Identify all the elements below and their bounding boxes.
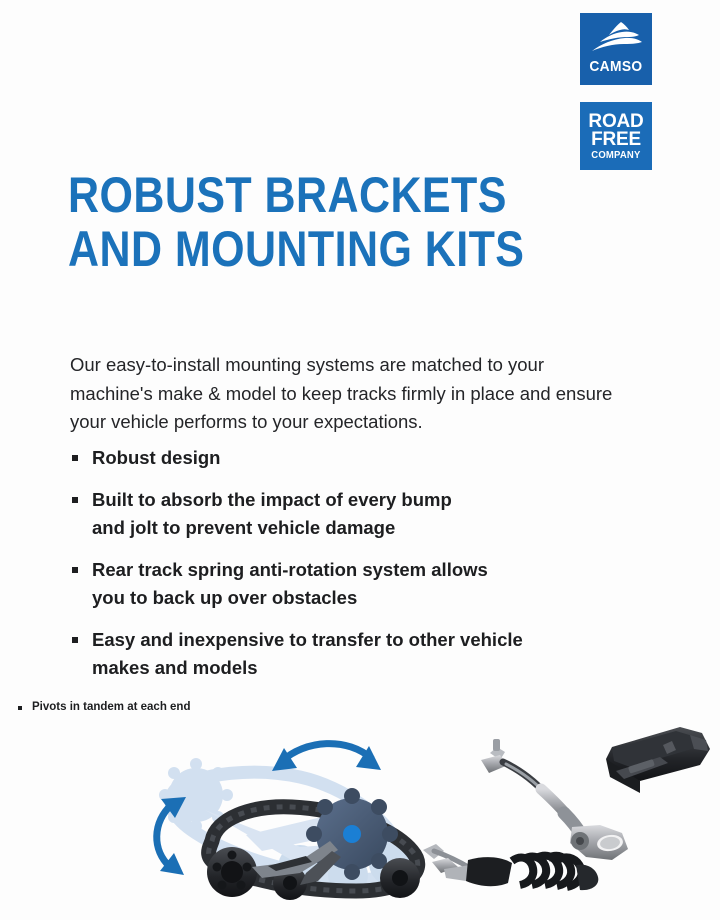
bullet-square-icon [72, 637, 78, 643]
linkage-arm-photo [481, 739, 628, 860]
camso-logo-tile[interactable]: CAMSO [580, 13, 652, 85]
list-item-label: Easy and inexpensive to transfer to othe… [92, 626, 650, 682]
list-item: Built to absorb the impact of every bump… [70, 486, 650, 542]
bullet-square-icon [72, 497, 78, 503]
page-root: { "brand": { "logo_tile": { "icon": "cam… [0, 0, 720, 920]
list-item: Easy and inexpensive to transfer to othe… [70, 626, 650, 682]
list-item-label: Rear track spring anti-rotation system a… [92, 556, 650, 612]
headline-line-2: AND MOUNTING KITS [68, 222, 550, 276]
footnote: Pivots in tandem at each end [18, 701, 190, 713]
camso-mountain-icon [590, 20, 642, 58]
brand-logo-block: CAMSO ROAD FREE COMPANY [580, 13, 652, 170]
illustration-area [0, 715, 720, 920]
list-item-label: Built to absorb the impact of every bump… [92, 486, 650, 542]
camso-wordmark: CAMSO [589, 59, 642, 74]
headline-line-1: ROBUST BRACKETS [68, 168, 550, 222]
feature-list: Robust design Built to absorb the impact… [70, 444, 650, 682]
list-item: Robust design [70, 444, 650, 472]
coil-spring-assembly-photo [423, 844, 598, 890]
list-item: Rear track spring anti-rotation system a… [70, 556, 650, 612]
intro-paragraph: Our easy-to-install mounting systems are… [70, 351, 630, 437]
bullet-square-icon [72, 567, 78, 573]
mounting-bracket-photo [606, 727, 710, 793]
bullet-square-icon [72, 455, 78, 461]
rubber-track-system-illustration [0, 715, 720, 920]
badge-line-company: COMPANY [591, 151, 640, 161]
pivot-arrow-top [281, 744, 372, 762]
coil-spring-coils [512, 856, 582, 887]
intro-paragraph-text: Our easy-to-install mounting systems are… [70, 351, 630, 437]
footnote-label: Pivots in tandem at each end [32, 701, 190, 713]
bullet-square-icon [18, 706, 22, 710]
badge-line-free: FREE [591, 131, 641, 149]
page-title: ROBUST BRACKETS AND MOUNTING KITS [68, 168, 628, 276]
road-free-company-badge[interactable]: ROAD FREE COMPANY [580, 102, 652, 170]
list-item-label: Robust design [92, 444, 650, 472]
